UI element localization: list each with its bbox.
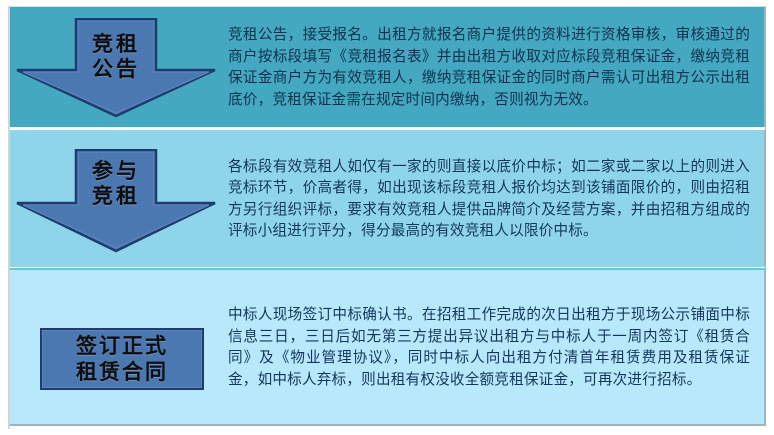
flow-step-body-3: 中标人现场签订中标确认书。在招租工作完成的次日出租方于现场公示铺面中标信息三日，… <box>228 304 750 390</box>
flow-step-row-1: 竞租 公告 竞租公告，接受报名。出租方就报名商户提供的资料进行资格审核，审核通过… <box>10 6 766 128</box>
flow-step-body-2: 各标段有效竞租人如仅有一家的则直接以底价中标；如二家或二家以上的则进入竞标环节，… <box>228 156 750 242</box>
flow-step-shape-cell-2: 参与 竞租 <box>10 130 222 267</box>
flow-step-text-cell-2: 各标段有效竞租人如仅有一家的则直接以底价中标；如二家或二家以上的则进入竞标环节，… <box>222 130 764 267</box>
flow-step-text-cell-1: 竞租公告，接受报名。出租方就报名商户提供的资料进行资格审核，审核通过的商户按标段… <box>222 7 764 127</box>
flow-step-row-2: 参与 竞租 各标段有效竞租人如仅有一家的则直接以底价中标；如二家或二家以上的则进… <box>10 128 766 268</box>
rental-bidding-flow-diagram: 竞租 公告 竞租公告，接受报名。出租方就报名商户提供的资料进行资格审核，审核通过… <box>8 6 766 429</box>
flow-step-text-cell-3: 中标人现场签订中标确认书。在招租工作完成的次日出租方于现场公示铺面中标信息三日，… <box>222 270 764 424</box>
flow-step-label-3: 签订正式 租赁合同 <box>76 333 168 385</box>
flow-step-shape-cell-3: 签订正式 租赁合同 <box>10 270 222 424</box>
down-arrow-icon-2 <box>14 149 218 253</box>
down-arrow-icon-1 <box>14 18 218 118</box>
flow-step-row-3: 签订正式 租赁合同 中标人现场签订中标确认书。在招租工作完成的次日出租方于现场公… <box>10 268 766 426</box>
rectangle-shape-3: 签订正式 租赁合同 <box>40 328 204 390</box>
flow-step-shape-cell-1: 竞租 公告 <box>10 7 222 127</box>
flow-step-body-1: 竞租公告，接受报名。出租方就报名商户提供的资料进行资格审核，审核通过的商户按标段… <box>228 24 750 110</box>
